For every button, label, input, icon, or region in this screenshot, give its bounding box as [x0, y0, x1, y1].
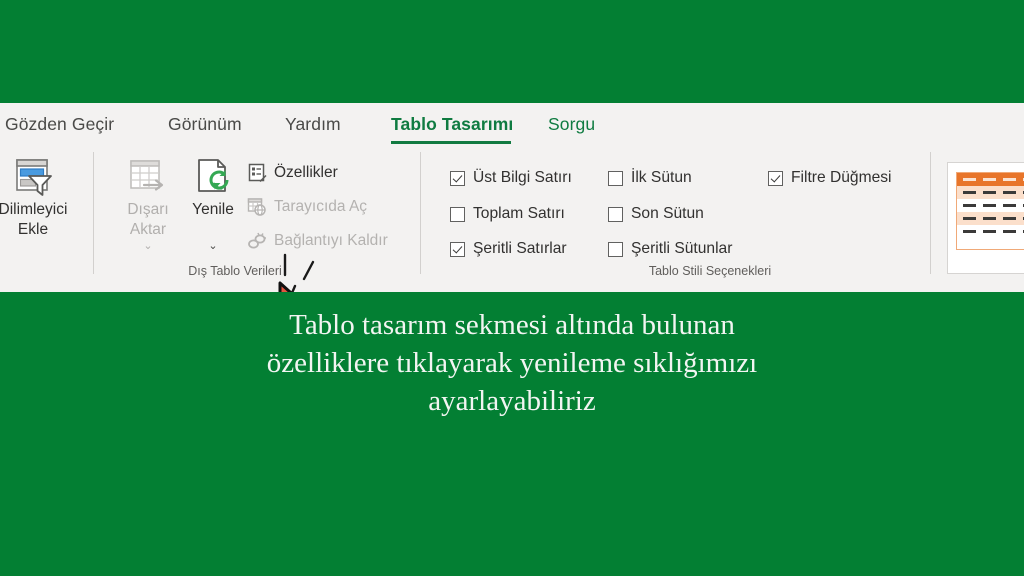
last-column-checkmark-icon: [608, 207, 623, 222]
caption-line-3: ayarlayabiliriz: [0, 382, 1024, 420]
first-column-checkbox[interactable]: İlk Sütun: [608, 169, 692, 187]
excel-ribbon: Gözden Geçir Görünüm Yardım Tablo Tasarı…: [0, 103, 1024, 292]
ribbon-body: Dilimleyici Ekle Dışarı Aktar ⌄: [0, 148, 1024, 292]
insert-slicer-label-2: Ekle: [0, 220, 76, 240]
slicer-icon: [0, 156, 76, 200]
tab-gozden-gecir[interactable]: Gözden Geçir: [5, 114, 114, 135]
banded-rows-label: Şeritli Satırlar: [473, 240, 567, 258]
refresh-button[interactable]: Yenile ⌄: [170, 156, 256, 252]
table-style-preview[interactable]: [956, 172, 1024, 250]
open-in-browser-icon: [246, 196, 268, 218]
unlink-label: Bağlantıyı Kaldır: [274, 232, 388, 250]
total-row-label: Toplam Satırı: [473, 205, 565, 223]
group-separator-1: [93, 152, 94, 274]
properties-label: Özellikler: [274, 164, 338, 182]
table-style-options-group-label: Tablo Stili Seçenekleri: [560, 264, 860, 278]
properties-icon: [246, 162, 268, 184]
last-column-label: Son Sütun: [631, 205, 704, 223]
insert-slicer-button[interactable]: Dilimleyici Ekle: [0, 156, 76, 240]
group-separator-3: [930, 152, 931, 274]
tab-yardim[interactable]: Yardım: [285, 114, 341, 135]
banded-rows-checkmark-icon: [450, 242, 465, 257]
header-row-label: Üst Bilgi Satırı: [473, 169, 572, 187]
table-styles-gallery[interactable]: [947, 162, 1024, 274]
open-in-browser-label: Tarayıcıda Aç: [274, 198, 367, 216]
tab-tablo-tasarimi[interactable]: Tablo Tasarımı: [391, 114, 513, 135]
header-row-checkbox[interactable]: Üst Bilgi Satırı: [450, 169, 572, 187]
active-tab-underline: [391, 141, 511, 144]
filter-button-checkbox[interactable]: Filtre Düğmesi: [768, 169, 892, 187]
caption-text: Tablo tasarım sekmesi altında bulunan öz…: [0, 306, 1024, 420]
last-column-checkbox[interactable]: Son Sütun: [608, 205, 704, 223]
group-separator-2: [420, 152, 421, 274]
properties-command[interactable]: Özellikler: [246, 160, 338, 186]
first-column-label: İlk Sütun: [631, 169, 692, 187]
preview-row-3: [957, 212, 1024, 225]
tab-sorgu[interactable]: Sorgu: [548, 114, 595, 135]
total-row-checkbox[interactable]: Toplam Satırı: [450, 205, 565, 223]
first-column-checkmark-icon: [608, 171, 623, 186]
header-row-checkmark-icon: [450, 171, 465, 186]
unlink-command[interactable]: Bağlantıyı Kaldır: [246, 228, 388, 254]
filter-button-checkmark-icon: [768, 171, 783, 186]
unlink-icon: [246, 230, 268, 252]
caption-line-1: Tablo tasarım sekmesi altında bulunan: [0, 306, 1024, 344]
banded-rows-checkbox[interactable]: Şeritli Satırlar: [450, 240, 567, 258]
banded-columns-checkmark-icon: [608, 242, 623, 257]
preview-row-4: [957, 225, 1024, 238]
ribbon-tab-row: Gözden Geçir Görünüm Yardım Tablo Tasarı…: [0, 103, 1024, 148]
open-in-browser-command[interactable]: Tarayıcıda Aç: [246, 194, 367, 220]
tab-gorunum[interactable]: Görünüm: [168, 114, 242, 135]
filter-button-label: Filtre Düğmesi: [791, 169, 892, 187]
refresh-document-icon: [170, 156, 256, 200]
insert-slicer-label-1: Dilimleyici: [0, 200, 76, 220]
caption-line-2: özelliklere tıklayarak yenileme sıklığım…: [0, 344, 1024, 382]
refresh-label-1: Yenile: [170, 200, 256, 220]
preview-row-1: [957, 186, 1024, 199]
banded-columns-label: Şeritli Sütunlar: [631, 240, 732, 258]
preview-row-2: [957, 199, 1024, 212]
external-table-data-group-label: Dış Tablo Verileri: [105, 264, 365, 278]
preview-header-row: [957, 173, 1024, 186]
banded-columns-checkbox[interactable]: Şeritli Sütunlar: [608, 240, 732, 258]
refresh-chevron-down-icon[interactable]: ⌄: [170, 240, 256, 252]
total-row-checkmark-icon: [450, 207, 465, 222]
